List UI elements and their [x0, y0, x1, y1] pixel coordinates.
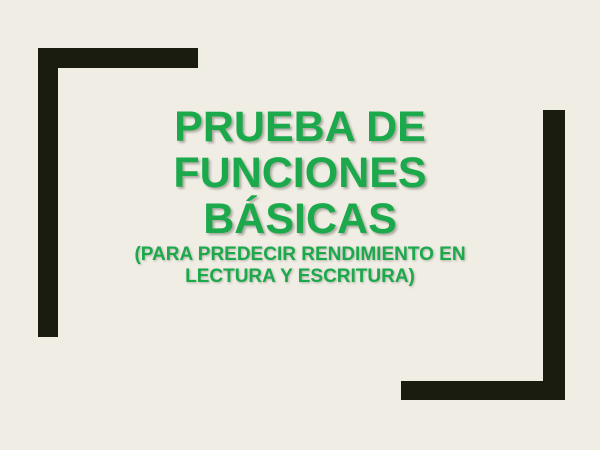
- slide-subtitle-line-2: LECTURA Y ESCRITURA): [0, 266, 600, 288]
- slide-text-block: PRUEBA DE FUNCIONES BÁSICAS (PARA PREDEC…: [0, 104, 600, 288]
- slide-title: PRUEBA DE FUNCIONES BÁSICAS: [0, 104, 600, 242]
- slide-title-line-1: PRUEBA DE: [0, 104, 600, 150]
- slide-title-line-2: FUNCIONES: [0, 150, 600, 196]
- presentation-slide: PRUEBA DE FUNCIONES BÁSICAS (PARA PREDEC…: [0, 0, 600, 450]
- bracket-bottom-right-horizontal-bar: [401, 381, 565, 400]
- bracket-top-left-horizontal-bar: [38, 48, 198, 68]
- slide-title-line-3: BÁSICAS: [0, 196, 600, 242]
- slide-subtitle-line-1: (PARA PREDECIR RENDIMIENTO EN: [0, 244, 600, 266]
- slide-subtitle: (PARA PREDECIR RENDIMIENTO EN LECTURA Y …: [0, 242, 600, 288]
